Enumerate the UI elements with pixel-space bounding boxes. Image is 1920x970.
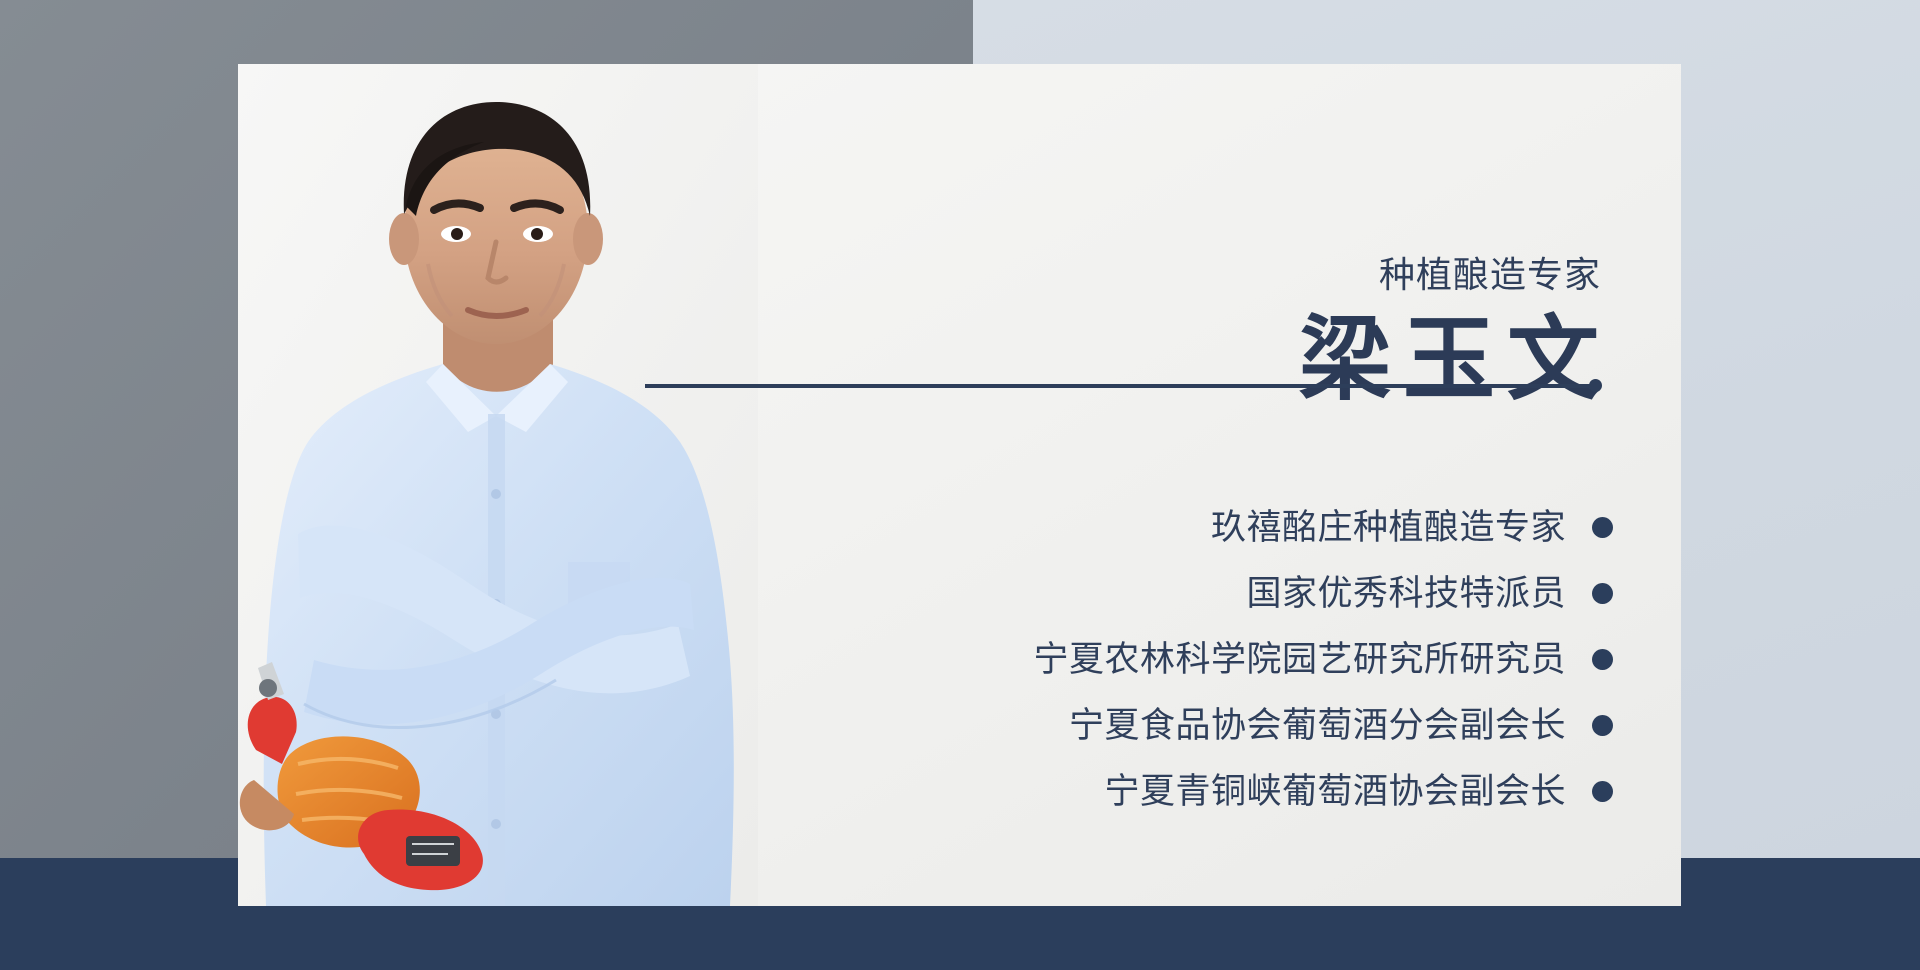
credential-label: 国家优秀科技特派员 xyxy=(1246,576,1566,611)
list-item: 国家优秀科技特派员 xyxy=(1246,560,1613,626)
credentials-list: 玖禧酩庄种植酿造专家 国家优秀科技特派员 宁夏农林科学院园艺研究所研究员 宁夏食… xyxy=(1033,494,1613,824)
list-item: 玖禧酩庄种植酿造专家 xyxy=(1211,494,1613,560)
list-item: 宁夏青铜峡葡萄酒协会副会长 xyxy=(1104,758,1613,824)
bullet-dot-icon xyxy=(1592,715,1613,736)
profile-card: 种植酿造专家 梁玉文 玖禧酩庄种植酿造专家 国家优秀科技特派员 宁夏农林科学院园… xyxy=(238,64,1681,906)
credential-label: 宁夏青铜峡葡萄酒协会副会长 xyxy=(1104,774,1566,809)
bullet-dot-icon xyxy=(1592,781,1613,802)
bullet-dot-icon xyxy=(1592,583,1613,604)
credential-label: 宁夏食品协会葡萄酒分会副会长 xyxy=(1069,708,1566,743)
bullet-dot-icon xyxy=(1592,649,1613,670)
bullet-dot-icon xyxy=(1592,517,1613,538)
profile-subtitle: 种植酿造专家 xyxy=(1379,257,1601,293)
portrait-photo xyxy=(238,64,758,906)
page-title: 梁玉文 xyxy=(1299,314,1611,406)
divider-end-dot-icon xyxy=(1589,379,1602,392)
list-item: 宁夏食品协会葡萄酒分会副会长 xyxy=(1069,692,1613,758)
credential-label: 玖禧酩庄种植酿造专家 xyxy=(1211,510,1566,545)
divider-rule xyxy=(645,384,1600,388)
credential-label: 宁夏农林科学院园艺研究所研究员 xyxy=(1033,642,1566,677)
list-item: 宁夏农林科学院园艺研究所研究员 xyxy=(1033,626,1613,692)
poster-canvas: 种植酿造专家 梁玉文 玖禧酩庄种植酿造专家 国家优秀科技特派员 宁夏农林科学院园… xyxy=(0,0,1920,970)
